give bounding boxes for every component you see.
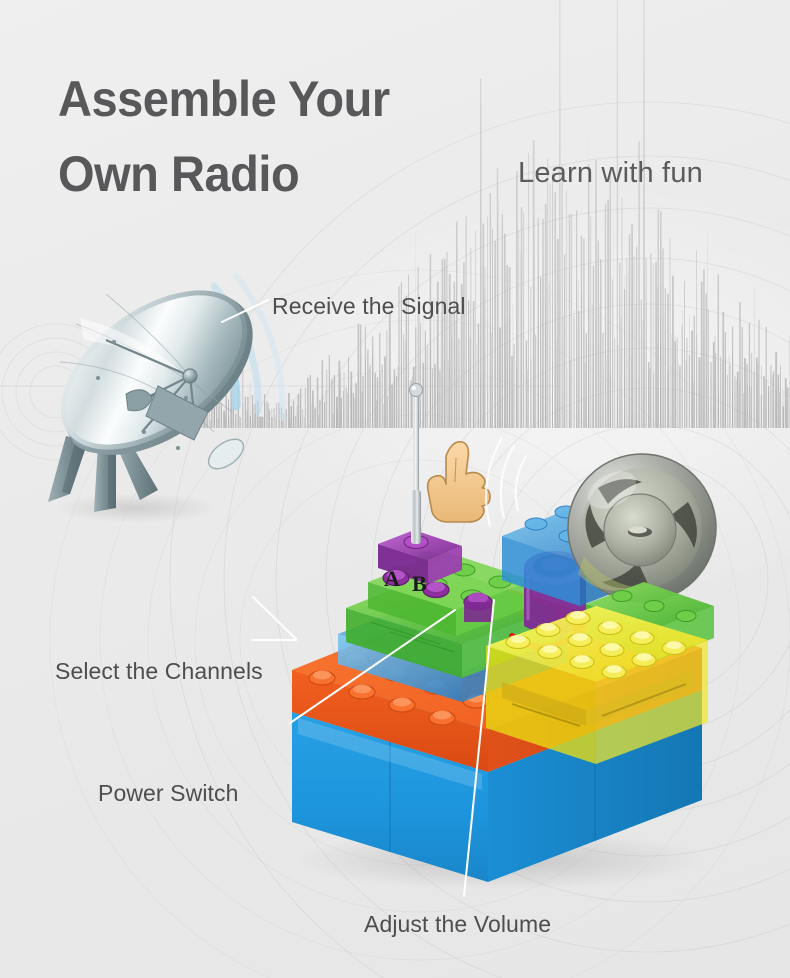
callout-adjust-the-volume: Adjust the Volume xyxy=(364,911,551,938)
radio-model xyxy=(250,360,760,920)
telescopic-antenna xyxy=(410,384,423,545)
speaker-grille xyxy=(568,454,716,602)
pointing-hand-icon xyxy=(428,442,490,522)
page-title: Assemble Your Own Radio xyxy=(58,62,500,212)
callout-receive-the-signal: Receive the Signal xyxy=(272,293,466,320)
tagline: Learn with fun xyxy=(518,157,703,190)
power-switch[interactable] xyxy=(464,593,492,623)
callout-power-switch: Power Switch xyxy=(98,780,239,807)
satellite-dish xyxy=(18,236,288,526)
channel-label-a: A xyxy=(384,566,400,592)
infographic-page: Assemble Your Own Radio Learn with fun xyxy=(0,0,790,978)
speaker-sound-waves xyxy=(486,438,526,526)
channel-label-b: B xyxy=(412,571,427,597)
callout-select-the-channels: Select the Channels xyxy=(55,658,263,685)
